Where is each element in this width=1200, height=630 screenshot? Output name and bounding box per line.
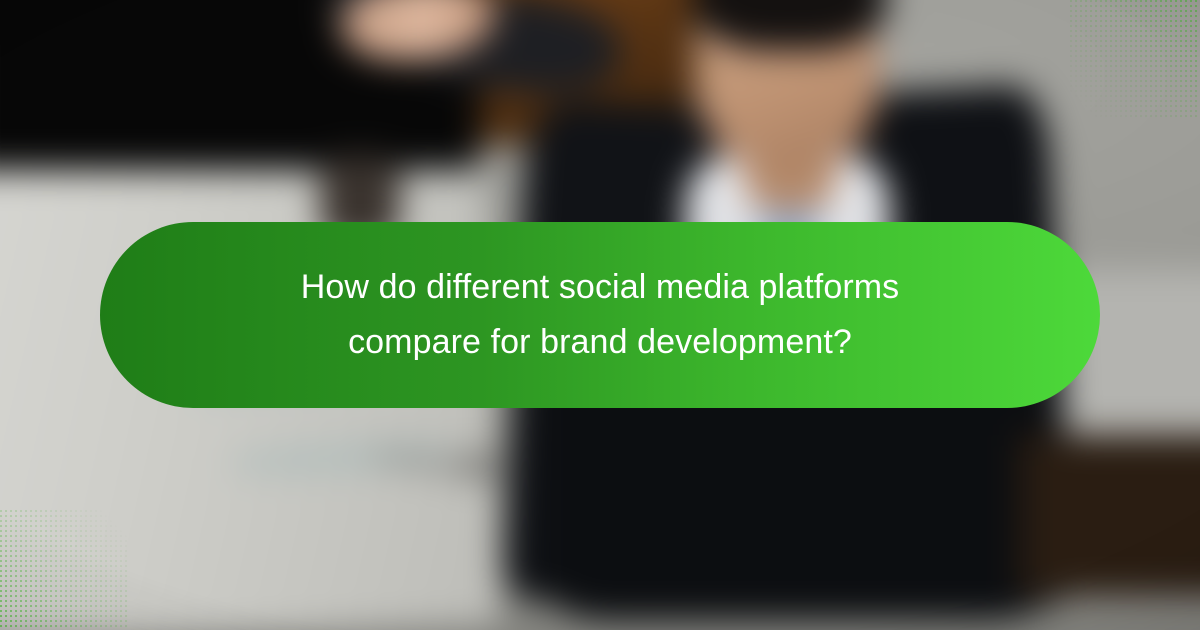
baseboard bbox=[1020, 435, 1200, 595]
question-text: How do different social media platforms … bbox=[301, 260, 900, 370]
question-card: How do different social media platforms … bbox=[0, 0, 1200, 630]
whiteboard-mark bbox=[460, 450, 494, 480]
question-pill: How do different social media platforms … bbox=[100, 222, 1100, 408]
